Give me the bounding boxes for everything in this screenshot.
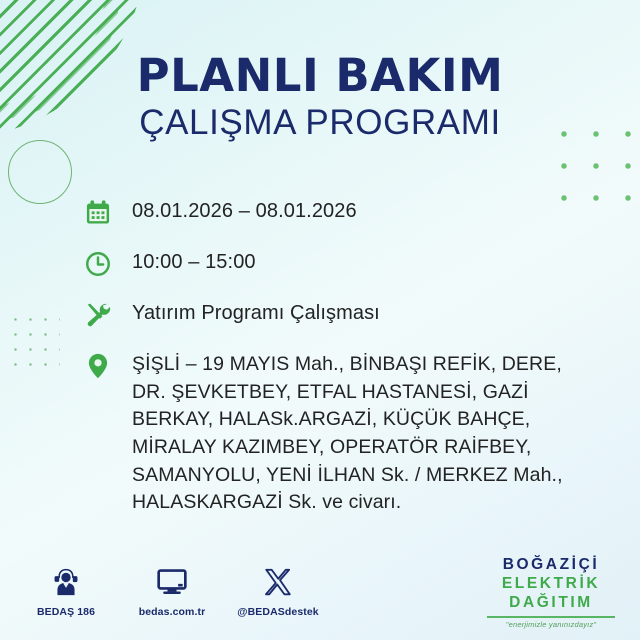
bedas-logo: BOĞAZİÇİ ELEKTRİK DAĞITIM "enerjimizle y… [476,556,626,629]
date-range-value: 08.01.2026 – 08.01.2026 [132,198,357,226]
details-list: 08.01.2026 – 08.01.2026 10:00 – 15:00 [84,198,594,517]
calendar-icon [84,198,132,227]
logo-line-dagitim: DAĞITIM [476,594,626,613]
logo-line-elektrik: ELEKTRİK [476,575,626,594]
contact-item-social[interactable]: @BEDASdestek [236,562,320,618]
circle-outline-decoration [8,140,72,204]
tools-icon [84,300,132,329]
poster-header: PLANLI BAKIM ÇALIŞMA PROGRAMI [0,52,640,144]
contact-item-call-center[interactable]: BEDAŞ 186 [24,562,108,618]
map-pin-icon [84,351,132,380]
contact-label: @BEDASdestek [236,606,320,618]
detail-row-date: 08.01.2026 – 08.01.2026 [84,198,594,227]
logo-divider [487,616,615,618]
contact-item-website[interactable]: bedas.com.tr [130,562,214,618]
time-range-value: 10:00 – 15:00 [132,249,256,277]
x-twitter-icon [236,562,320,602]
detail-row-work: Yatırım Programı Çalışması [84,300,594,329]
contact-list: BEDAŞ 186 bedas.com.tr [24,562,320,618]
contact-label: bedas.com.tr [130,606,214,618]
logo-line-bogazici: BOĞAZİÇİ [476,556,626,575]
poster-footer: BEDAŞ 186 bedas.com.tr [0,544,640,640]
detail-row-time: 10:00 – 15:00 [84,249,594,278]
clock-icon [84,249,132,278]
location-value: ŞİŞLİ – 19 MAYIS Mah., BİNBAŞI REFİK, DE… [132,351,587,517]
page-subtitle: ÇALIŞMA PROGRAMI [0,103,640,143]
monitor-icon [130,562,214,602]
call-center-agent-icon [24,562,108,602]
detail-row-location: ŞİŞLİ – 19 MAYIS Mah., BİNBAŞI REFİK, DE… [84,351,594,517]
work-type-value: Yatırım Programı Çalışması [132,300,380,328]
page-title: PLANLI BAKIM [0,52,640,99]
planned-maintenance-poster: PLANLI BAKIM ÇALIŞMA PROGRAMI [0,0,640,640]
dot-grid-decoration-left [8,312,60,378]
logo-tagline: "enerjimizle yanınızdayız" [476,620,626,629]
contact-label: BEDAŞ 186 [24,606,108,618]
